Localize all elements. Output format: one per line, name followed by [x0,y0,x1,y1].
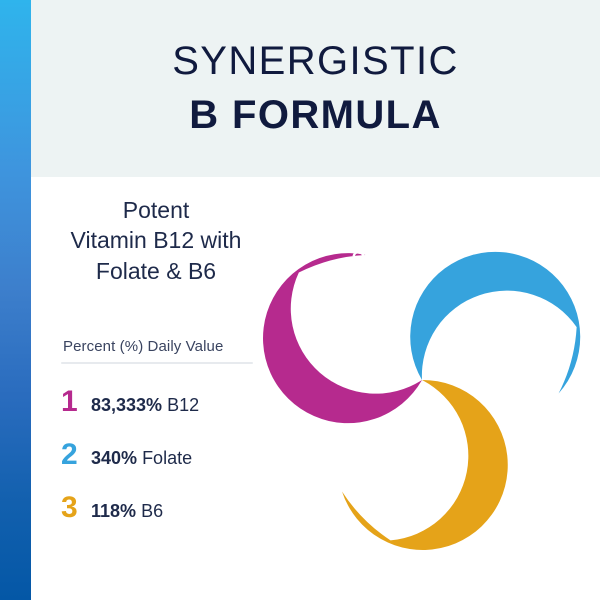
divider-rule [61,362,253,364]
daily-value-block: Percent (%) Daily Value 1 83,333% B12 2 … [31,338,281,523]
lobe-b6-title: B6 [349,450,409,503]
list-item: 2 340% Folate [61,440,267,470]
list-item-nutrient: B12 [167,395,199,415]
nutrient-swirl-diagram: 2,000 mcg B12 Folate 1,360 mcg DFE 2 mg … [252,208,592,553]
list-item-text: 340% Folate [91,449,192,467]
subheading-line-1: Potent [49,195,263,225]
left-content-column: Potent Vitamin B12 with Folate & B6 Perc… [31,195,281,523]
infographic-page: SYNERGISTIC B FORMULA Potent Vitamin B12… [0,0,600,600]
subheading-line-2: Vitamin B12 with [49,225,263,255]
list-item-text: 83,333% B12 [91,396,199,414]
list-item-number: 1 [61,387,91,417]
list-item: 1 83,333% B12 [61,387,267,417]
title-line-2: B FORMULA [189,92,442,139]
title-line-1: SYNERGISTIC [172,38,459,85]
page-title: SYNERGISTIC B FORMULA [31,0,600,177]
list-item-value: 340% [91,448,137,468]
subheading-line-3: Folate & B6 [49,256,263,286]
list-item-nutrient: Folate [142,448,192,468]
list-item-nutrient: B6 [141,501,163,521]
list-item-number: 3 [61,493,91,523]
daily-value-label: Percent (%) Daily Value [61,338,267,355]
list-item: 3 118% B6 [61,493,267,523]
list-item-value: 118% [91,501,136,521]
subheading: Potent Vitamin B12 with Folate & B6 [31,195,281,286]
lobe-b12[interactable]: 2,000 mcg B12 [252,226,477,455]
lobe-b6-dose: 2 mg [294,414,354,444]
list-item-value: 83,333% [91,395,162,415]
list-item-number: 2 [61,440,91,470]
left-gradient-strip [0,0,31,600]
list-item-text: 118% B6 [91,502,163,520]
